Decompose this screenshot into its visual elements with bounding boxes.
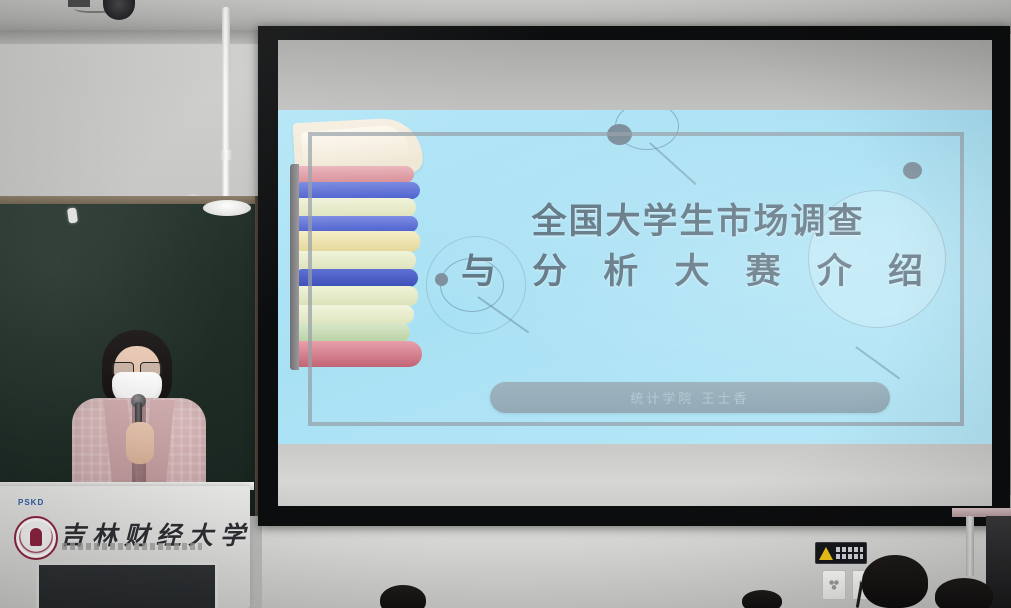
decor-dot-left	[435, 273, 448, 286]
screen-unlit-bottom-band	[278, 444, 992, 506]
power-outlet-left[interactable]	[822, 570, 846, 600]
book-cream-1	[292, 198, 416, 217]
presenter-hands	[126, 422, 154, 464]
screen-unlit-top-band	[278, 40, 992, 114]
decor-circle-top	[615, 110, 679, 150]
book-navy-1	[298, 269, 418, 287]
warning-triangle-icon	[819, 547, 833, 560]
slide-title: 全国大学生市场调查 与 分 析 大 赛 介 绍	[428, 198, 968, 297]
book-green-1	[292, 323, 410, 342]
book-blue-1	[298, 182, 420, 199]
book-cream-4	[294, 305, 414, 324]
desk-leg	[966, 516, 974, 576]
decor-circle-far-right	[426, 236, 526, 334]
book-yellow-1	[292, 231, 420, 252]
slide-subtitle-text: 统计学院 王士香	[630, 388, 749, 407]
warning-sign-text	[836, 547, 863, 559]
book-red-bottom	[296, 341, 422, 367]
presentation-slide: 全国大学生市场调查 与 分 析 大 赛 介 绍 统计学院 王士香	[278, 110, 992, 450]
decor-large-circle	[808, 190, 946, 328]
slide-title-line-2: 与 分 析 大 赛 介 绍	[428, 248, 968, 298]
audience-head	[742, 590, 782, 608]
book-open-top	[293, 117, 424, 180]
chalk-piece	[67, 207, 78, 223]
book-spine-left	[290, 164, 299, 370]
university-crest-icon	[14, 516, 58, 560]
university-english-subtitle	[62, 543, 202, 550]
decor-line-right	[856, 346, 901, 379]
decor-circle-left	[440, 258, 504, 312]
slide-title-line-1: 全国大学生市场调查	[428, 198, 968, 248]
pole-base	[203, 200, 251, 216]
book-pink-1	[292, 166, 414, 183]
books-illustration	[292, 114, 432, 436]
decor-line-left	[478, 296, 530, 333]
book-cream-3	[292, 286, 418, 306]
projection-screen-frame: 全国大学生市场调查 与 分 析 大 赛 介 绍 统计学院 王士香	[258, 26, 1010, 526]
pole-joint	[220, 150, 232, 160]
electrical-warning-sign	[815, 542, 867, 564]
audience-head	[935, 578, 993, 608]
decor-dot-right	[903, 162, 922, 179]
slide-subtitle-pill: 统计学院 王士香	[490, 382, 890, 413]
slide-border-frame	[308, 132, 964, 426]
book-open-page	[301, 123, 410, 166]
podium-display[interactable]	[36, 562, 218, 608]
decor-dot-top	[607, 124, 632, 145]
decor-line-top	[649, 142, 696, 185]
audience-head	[862, 555, 928, 608]
book-blue-2	[296, 216, 418, 232]
projection-screen-surface: 全国大学生市场调查 与 分 析 大 赛 介 绍 统计学院 王士香	[278, 40, 992, 506]
slide-glare-overlay	[278, 110, 992, 450]
audience-head	[380, 585, 426, 608]
vertical-pole	[222, 7, 230, 207]
lecture-hall-scene: 全国大学生市场调查 与 分 析 大 赛 介 绍 统计学院 王士香 PSKD	[0, 0, 1011, 608]
book-cream-2	[294, 251, 416, 270]
podium-brand-tag: PSKD	[18, 498, 44, 507]
